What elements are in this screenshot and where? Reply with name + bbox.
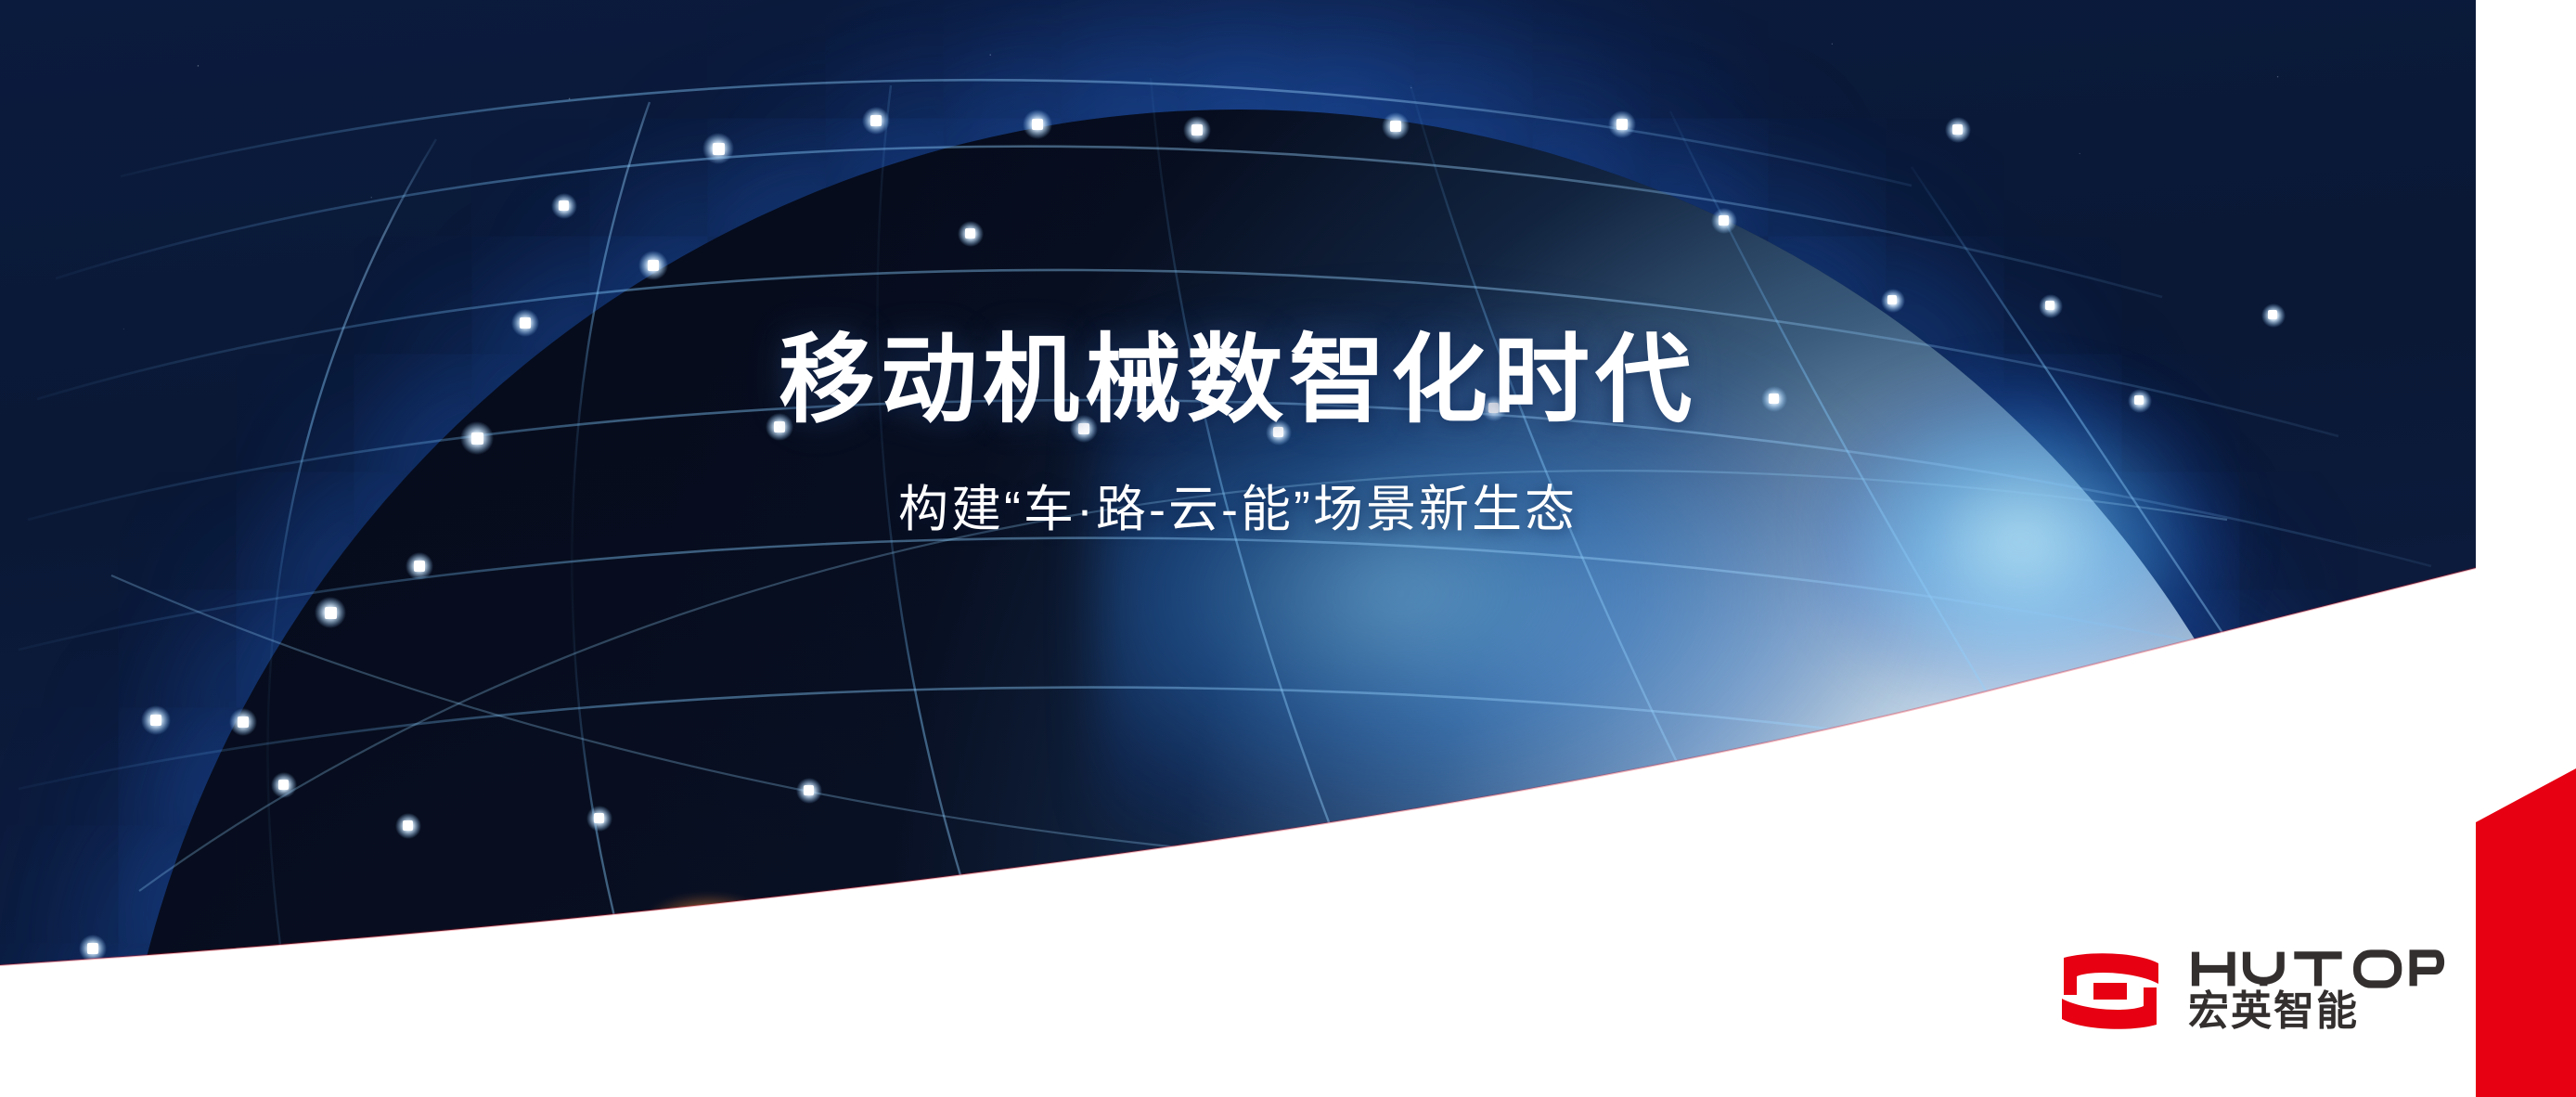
earth-globe [111,110,2366,1097]
title-slide: 移动机械数智化时代 构建“车·路-云-能”场景新生态 [0,0,2576,1097]
logo-text: 宏英智能 [2188,949,2448,1034]
brand-logo: 宏英智能 [2058,949,2448,1034]
background-space-photo [0,0,2476,1097]
hytop-s-mark-icon [2058,952,2162,1030]
logo-chinese-name-text: 宏英智能 [2188,988,2359,1034]
brand-red-bar [2476,0,2576,1097]
logo-wordmark-hytop [2188,949,2448,989]
logo-chinese-name: 宏英智能 [2188,991,2448,1034]
globe-container [0,0,2476,1097]
globe-rim [111,110,2366,1097]
